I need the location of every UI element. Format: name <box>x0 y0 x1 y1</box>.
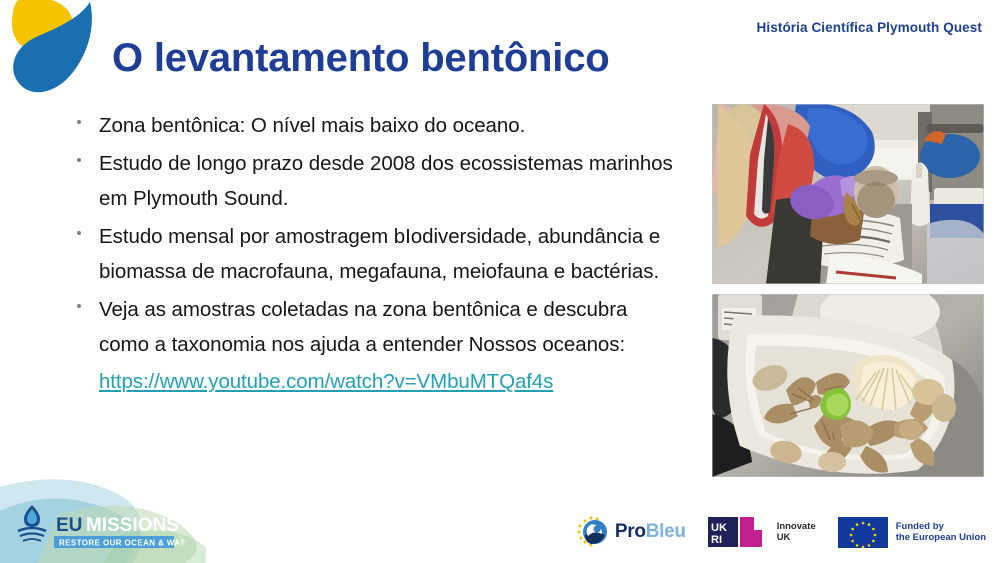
page-title: O levantamento bentônico <box>112 36 610 81</box>
photo-benthic-specimens-tray <box>712 294 984 477</box>
list-item: Veja as amostras coletadas na zona bentô… <box>72 292 682 362</box>
probleu-wave-circle-icon <box>576 515 610 549</box>
list-item: Estudo de longo prazo desde 2008 dos eco… <box>72 146 682 216</box>
youtube-video-link[interactable]: https://www.youtube.com/watch?v=VMbuMTQa… <box>99 370 553 393</box>
innovate-uk-line1: Innovate <box>777 521 816 533</box>
slide: História Científica Plymouth Quest O lev… <box>0 0 1000 563</box>
header-label: História Científica Plymouth Quest <box>757 20 982 35</box>
bullet-dot-icon <box>77 158 81 162</box>
eu-funded-logo: Funded by the European Union <box>838 516 986 549</box>
svg-text:RI: RI <box>711 534 722 546</box>
bullet-dot-icon <box>77 120 81 124</box>
bullet-dot-icon <box>77 231 81 235</box>
probleu-text-pro: Pro <box>615 521 646 542</box>
svg-text:MISSIONS: MISSIONS <box>86 515 179 536</box>
eu-missions-logo: EU MISSIONS RESTORE OUR OCEAN & WATERS <box>14 503 186 551</box>
innovate-uk-wordmark: Innovate UK <box>777 521 816 544</box>
eu-funded-line1: Funded by <box>896 521 986 533</box>
innovate-uk-logo: UK RI Innovate UK <box>708 515 816 549</box>
svg-text:UK: UK <box>711 522 727 534</box>
probleu-wordmark: ProBleu <box>615 521 686 543</box>
list-item-text: Zona bentônica: O nível mais baixo do oc… <box>99 114 525 137</box>
list-item-text: Veja as amostras coletadas na zona bentô… <box>99 298 627 356</box>
probleu-logo: ProBleu <box>576 515 686 549</box>
footer-logo-row: ProBleu UK RI Innovate UK <box>576 511 986 553</box>
bullet-list: Zona bentônica: O nível mais baixo do oc… <box>72 108 682 399</box>
eu-flag-icon <box>838 516 888 549</box>
video-link-row[interactable]: https://www.youtube.com/watch?v=VMbuMTQa… <box>72 365 682 399</box>
ukri-mark-icon: UK RI <box>708 515 770 549</box>
photo-scientist-sorting-samples <box>712 104 984 284</box>
plymouth-quest-leaf-logo-icon <box>4 0 108 100</box>
list-item-text: Estudo de longo prazo desde 2008 dos eco… <box>99 152 673 210</box>
list-item: Estudo mensal por amostragem bIodiversid… <box>72 219 682 289</box>
bullet-dot-icon <box>77 304 81 308</box>
eu-funded-line2: the European Union <box>896 532 986 544</box>
probleu-text-bleu: Bleu <box>646 521 686 542</box>
list-item: Zona bentônica: O nível mais baixo do oc… <box>72 108 682 143</box>
eu-funded-wordmark: Funded by the European Union <box>896 521 986 544</box>
svg-text:EU: EU <box>56 515 82 536</box>
list-item-text: Estudo mensal por amostragem bIodiversid… <box>99 225 660 283</box>
innovate-uk-line2: UK <box>777 532 816 544</box>
svg-text:RESTORE OUR OCEAN & WATERS: RESTORE OUR OCEAN & WATERS <box>59 539 186 548</box>
